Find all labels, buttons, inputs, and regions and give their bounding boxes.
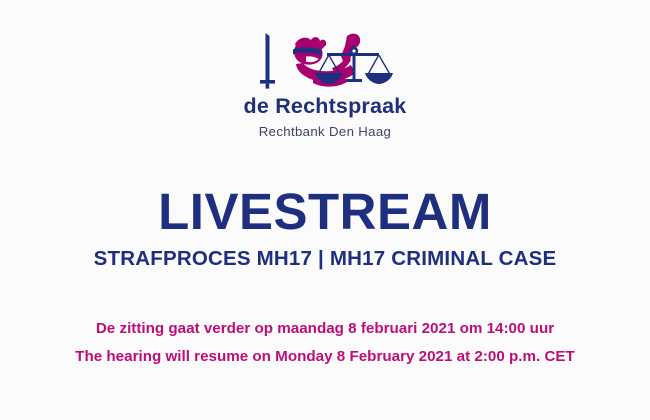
livestream-slide: de Rechtspraak Rechtbank Den Haag LIVEST… xyxy=(0,0,650,420)
page-title: LIVESTREAM xyxy=(0,186,650,237)
notice-dutch: De zitting gaat verder op maandag 8 febr… xyxy=(0,320,650,337)
case-subtitle: STRAFPROCES MH17 | MH17 CRIMINAL CASE xyxy=(0,248,650,271)
lady-justice-logo-icon xyxy=(251,30,399,92)
notice-english: The hearing will resume on Monday 8 Febr… xyxy=(0,348,650,365)
logo-subline-court-name: Rechtbank Den Haag xyxy=(0,125,650,139)
logo-wordmark: de Rechtspraak xyxy=(0,95,650,118)
organization-logo-block: de Rechtspraak Rechtbank Den Haag xyxy=(0,30,650,138)
